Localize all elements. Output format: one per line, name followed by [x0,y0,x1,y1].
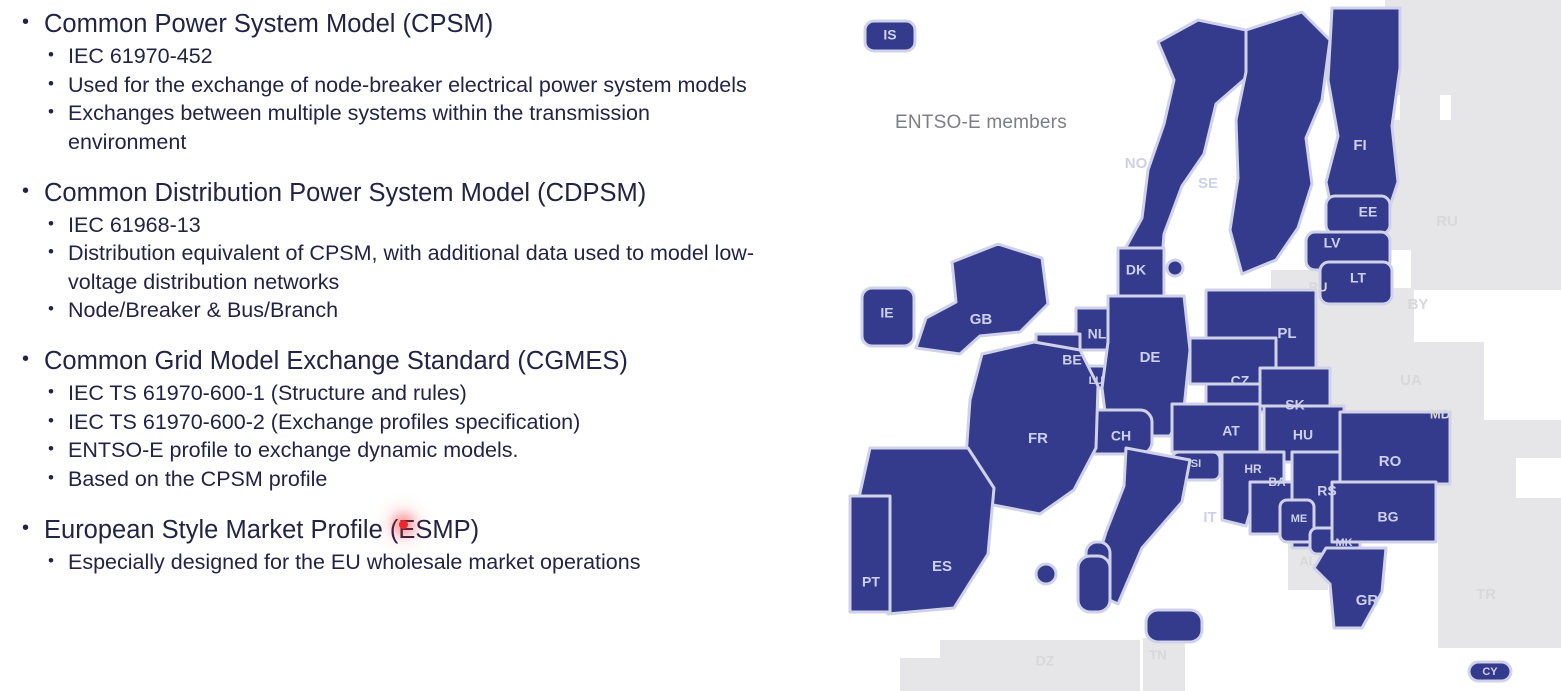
label-ua: UA [1400,372,1422,389]
bullet-level2: • Node/Breaker & Bus/Branch [0,296,840,325]
bullet-group: • European Style Market Profile (ESMP) •… [0,514,840,577]
bullet-level2-label: IEC TS 61970-600-2 (Exchange profiles sp… [68,408,768,437]
island-sicily [1146,610,1202,642]
bullet-glyph-icon: • [48,465,68,491]
label-sk: SK [1285,397,1304,413]
slide-root: • Common Power System Model (CPSM) • IEC… [0,0,1561,691]
country-at [1172,404,1260,452]
island-balearic [1036,564,1056,584]
bullet-level2: • Exchanges between multiple systems wit… [0,99,840,156]
bullet-level2: • IEC TS 61970-600-1 (Structure and rule… [0,379,840,408]
label-md: MD [1430,406,1450,421]
label-me: ME [1291,513,1308,525]
bullet-glyph-icon: • [22,177,44,206]
country-tr [1438,420,1561,648]
label-is: IS [883,27,896,43]
country-tn [1143,638,1185,691]
europe-map-svg: IS NO SE FI EE LV LT DK IE GB NL BE LU D… [840,0,1561,691]
label-ba: BA [1268,475,1286,489]
label-lu: LU [1089,375,1104,387]
label-cz: CZ [1231,373,1250,389]
country-dz [900,640,1140,691]
bullet-group: • Common Grid Model Exchange Standard (C… [0,345,840,494]
entsoe-member-map: ENTSO-E members [840,0,1561,691]
country-ro [1340,412,1450,484]
label-dz: DZ [1036,653,1055,669]
bullet-glyph-icon: • [48,548,68,574]
label-lt: LT [1350,270,1367,286]
label-pl: PL [1277,325,1296,342]
label-ro: RO [1379,453,1402,470]
label-dk: DK [1126,262,1146,278]
label-ch: CH [1111,428,1131,444]
country-pt [850,496,890,612]
group-spacer [0,157,840,177]
bullet-level1-label: Common Grid Model Exchange Standard (CGM… [44,345,840,377]
bullet-level2-label: ENTSO-E profile to exchange dynamic mode… [68,436,768,465]
label-de: DE [1140,349,1161,366]
label-fi: FI [1353,137,1366,154]
label-it: IT [1203,509,1216,526]
group-spacer [0,494,840,514]
bullet-level1: • Common Power System Model (CPSM) [0,8,840,40]
bullet-glyph-icon: • [48,408,68,434]
bullet-group: • Common Distribution Power System Model… [0,177,840,326]
bullet-level2: • Especially designed for the EU wholesa… [0,548,840,577]
group-spacer [0,325,840,345]
bullet-level2: • IEC TS 61970-600-2 (Exchange profiles … [0,408,840,437]
bullet-glyph-icon: • [48,211,68,237]
label-rs: RS [1317,483,1336,499]
bullet-level2: • Based on the CPSM profile [0,465,840,494]
label-se: SE [1198,175,1218,192]
bullet-level2-label: Exchanges between multiple systems withi… [68,99,768,156]
island-sardinia [1078,556,1110,612]
bullet-level2-label: IEC 61968-13 [68,211,768,240]
bullet-glyph-icon: • [48,71,68,97]
label-at: AT [1222,423,1240,439]
bullet-level1: • Common Grid Model Exchange Standard (C… [0,345,840,377]
bullet-level1: • European Style Market Profile (ESMP) [0,514,840,546]
bullet-level2: • ENTSO-E profile to exchange dynamic mo… [0,436,840,465]
bullet-glyph-icon: • [22,345,44,374]
bullet-level1-label: European Style Market Profile (ESMP) [44,514,840,546]
label-cy: CY [1482,666,1498,678]
label-gb: GB [970,311,993,328]
bullet-level2: • Distribution equivalent of CPSM, with … [0,239,840,296]
bullet-glyph-icon: • [22,514,44,543]
bullet-level2-label: Used for the exchange of node-breaker el… [68,71,768,100]
bullet-glyph-icon: • [48,239,68,265]
bullet-level2-label: IEC 61970-452 [68,42,768,71]
bullet-content: • Common Power System Model (CPSM) • IEC… [0,0,840,691]
label-no: NO [1125,155,1148,172]
bullet-level2: • Used for the exchange of node-breaker … [0,71,840,100]
bullet-level2: • IEC 61970-452 [0,42,840,71]
label-hr: HR [1244,462,1262,476]
label-nl: NL [1088,326,1107,342]
bullet-glyph-icon: • [48,379,68,405]
label-al: AL [1299,553,1316,568]
bullet-group: • Common Power System Model (CPSM) • IEC… [0,8,840,157]
bullet-level2-label: IEC TS 61970-600-1 (Structure and rules) [68,379,768,408]
country-ru-finland-border [1400,40,1440,230]
label-tn: TN [1149,647,1166,662]
label-ee: EE [1359,204,1378,220]
label-hu: HU [1293,427,1313,443]
bullet-glyph-icon: • [48,99,68,125]
label-tr: TR [1476,586,1496,603]
label-gr: GR [1356,592,1379,609]
bullet-level1: • Common Distribution Power System Model… [0,177,840,209]
island-bornholm [1167,260,1183,276]
bullet-glyph-icon: • [48,436,68,462]
bullet-glyph-icon: • [22,8,44,37]
bullet-level1-label: Common Distribution Power System Model (… [44,177,840,209]
bullet-level2-label: Especially designed for the EU wholesale… [68,548,768,577]
bullet-level2-label: Distribution equivalent of CPSM, with ad… [68,239,768,296]
label-ru-kaliningrad: RU [1309,279,1328,294]
label-es: ES [932,558,952,575]
label-by: BY [1408,296,1429,313]
country-gb [916,244,1048,354]
bullet-level2-label: Based on the CPSM profile [68,465,768,494]
bullet-level2-label: Node/Breaker & Bus/Branch [68,296,768,325]
label-mk: MK [1335,537,1352,549]
bullet-glyph-icon: • [48,42,68,68]
map-legend-label: ENTSO-E members [895,112,1067,134]
label-bg: BG [1378,509,1399,525]
bullet-level1-label: Common Power System Model (CPSM) [44,8,840,40]
bullet-level2: • IEC 61968-13 [0,211,840,240]
label-si: SI [1191,458,1201,470]
label-ru-north: RU [1436,213,1458,230]
label-be: BE [1062,352,1081,368]
label-lv: LV [1324,235,1342,251]
bullet-glyph-icon: • [48,296,68,322]
label-fr: FR [1028,430,1048,447]
label-pt: PT [862,574,880,590]
label-ie: IE [880,305,893,321]
